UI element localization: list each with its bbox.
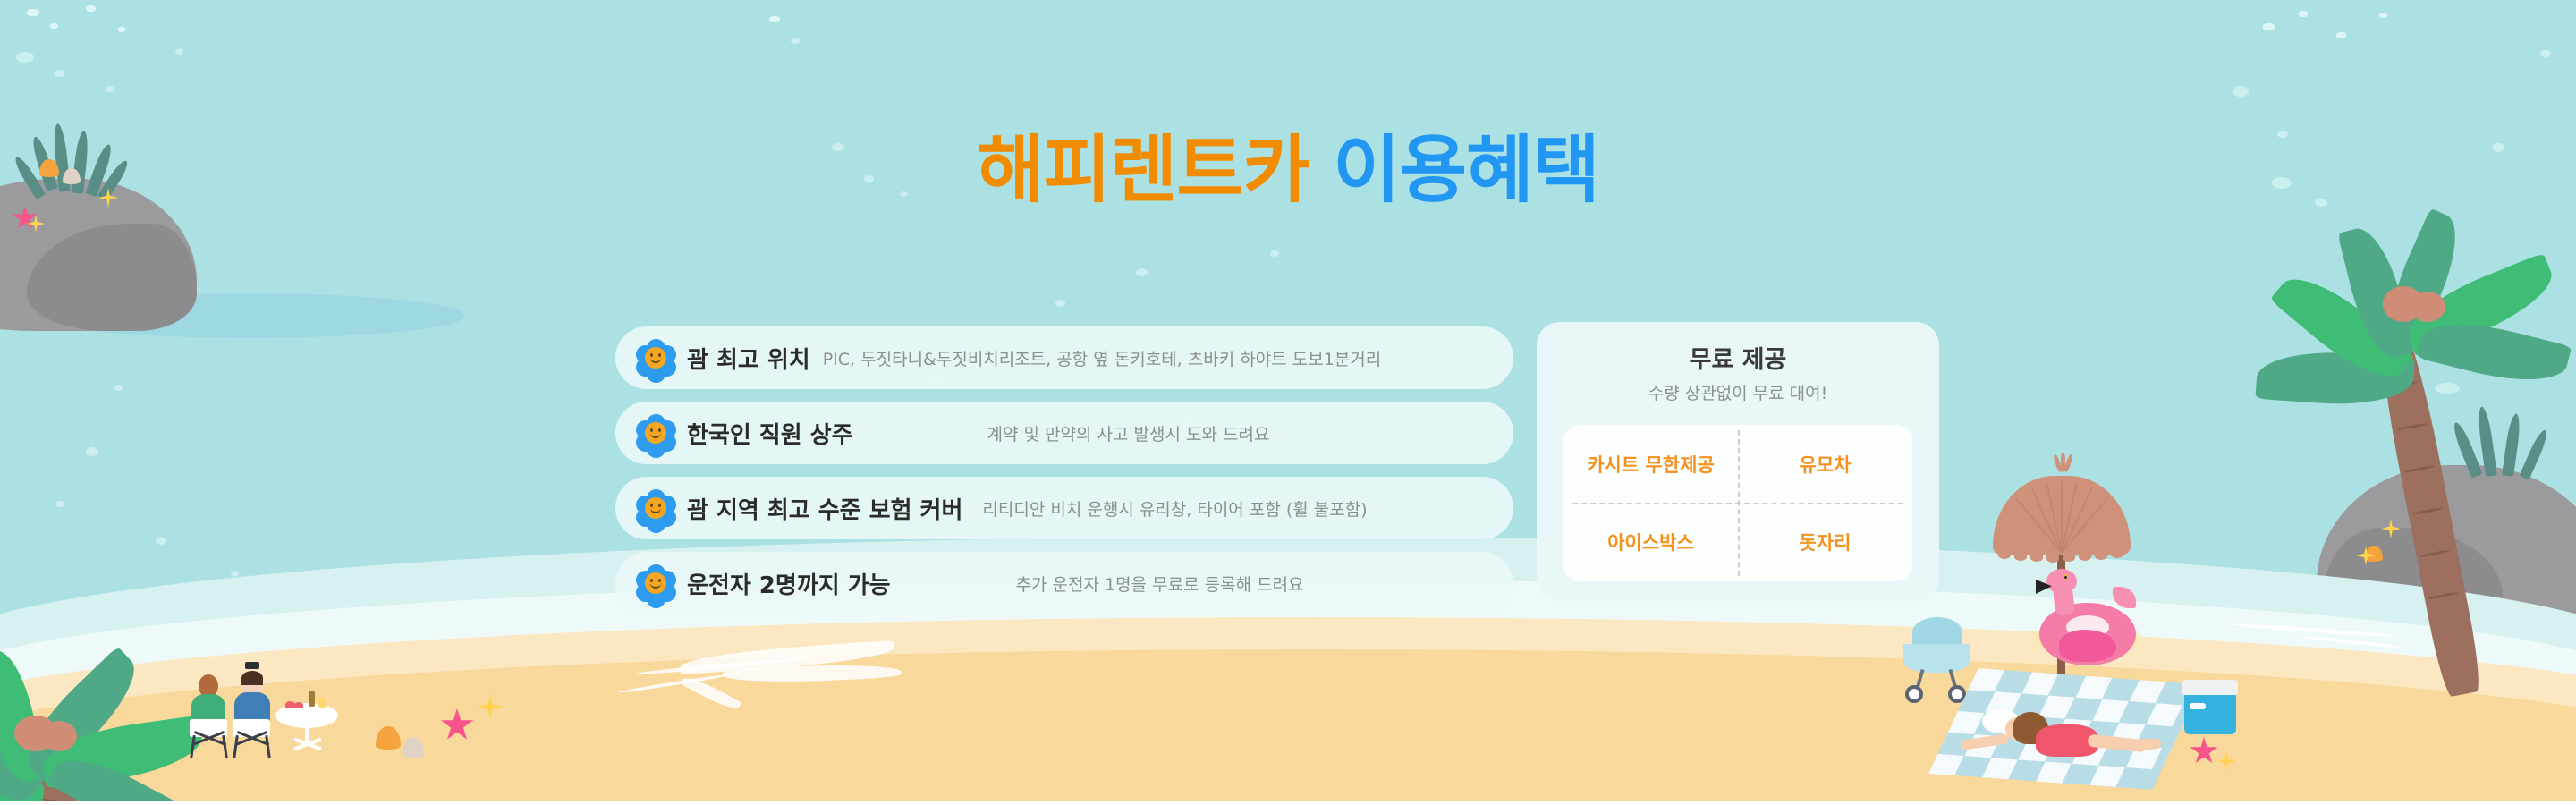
free-item-beach-mat[interactable]: 돗자리 <box>1738 504 1912 582</box>
free-card-title: 무료 제공 <box>1537 340 1939 375</box>
free-item-stroller[interactable]: 유모차 <box>1738 425 1912 504</box>
flower-smiley-icon <box>637 489 674 527</box>
benefit-row-second-driver[interactable]: 운전자 2명까지 가능 추가 운전자 1명을 무료로 등록해 드려요 <box>615 552 1513 614</box>
benefit-label: 한국인 직원 상주 <box>687 417 853 450</box>
title-subject: 이용혜택 <box>1333 128 1599 213</box>
flower-smiley-icon <box>637 414 674 452</box>
benefit-label: 운전자 2명까지 가능 <box>687 567 891 600</box>
free-provision-card: 무료 제공 수량 상관없이 무료 대여! 카시트 무한제공 유모차 아이스박스 … <box>1537 322 1939 601</box>
free-item-icebox[interactable]: 아이스박스 <box>1563 504 1738 582</box>
flower-smiley-icon <box>637 564 674 602</box>
beach-banner-stage: 해피렌트카이용혜택 괌 최고 위치 PIC, 두짓타니&두짓비치리조트, 공항 … <box>0 0 2576 805</box>
benefits-list: 괌 최고 위치 PIC, 두짓타니&두짓비치리조트, 공항 옆 돈키호테, 츠바… <box>615 326 1513 627</box>
free-item-carseat[interactable]: 카시트 무한제공 <box>1563 425 1738 504</box>
grid-horizontal-divider <box>1572 503 1903 504</box>
benefit-desc: 계약 및 만약의 사고 발생시 도와 드려요 <box>987 421 1270 445</box>
free-items-grid: 카시트 무한제공 유모차 아이스박스 돗자리 <box>1563 425 1912 581</box>
benefit-desc: 리티디안 비치 운행시 유리창, 타이어 포함 (휠 불포함) <box>982 496 1367 521</box>
benefit-label: 괌 최고 위치 <box>687 342 810 375</box>
page-title: 해피렌트카이용혜택 <box>0 134 2576 208</box>
benefit-label: 괌 지역 최고 수준 보험 커버 <box>687 492 962 525</box>
benefit-row-insurance[interactable]: 괌 지역 최고 수준 보험 커버 리티디안 비치 운행시 유리창, 타이어 포함… <box>615 477 1513 539</box>
benefit-desc: 추가 운전자 1명을 무료로 등록해 드려요 <box>1016 572 1304 596</box>
benefit-desc: PIC, 두짓타니&두짓비치리조트, 공항 옆 돈키호테, 츠바키 하야트 도보… <box>823 346 1382 370</box>
title-brand: 해피렌트카 <box>977 128 1309 213</box>
benefit-row-korean-staff[interactable]: 한국인 직원 상주 계약 및 만약의 사고 발생시 도와 드려요 <box>615 402 1513 464</box>
free-card-subtitle: 수량 상관없이 무료 대여! <box>1537 380 1939 404</box>
flower-smiley-icon <box>637 339 674 377</box>
benefit-row-location[interactable]: 괌 최고 위치 PIC, 두짓타니&두짓비치리조트, 공항 옆 돈키호테, 츠바… <box>615 326 1513 389</box>
